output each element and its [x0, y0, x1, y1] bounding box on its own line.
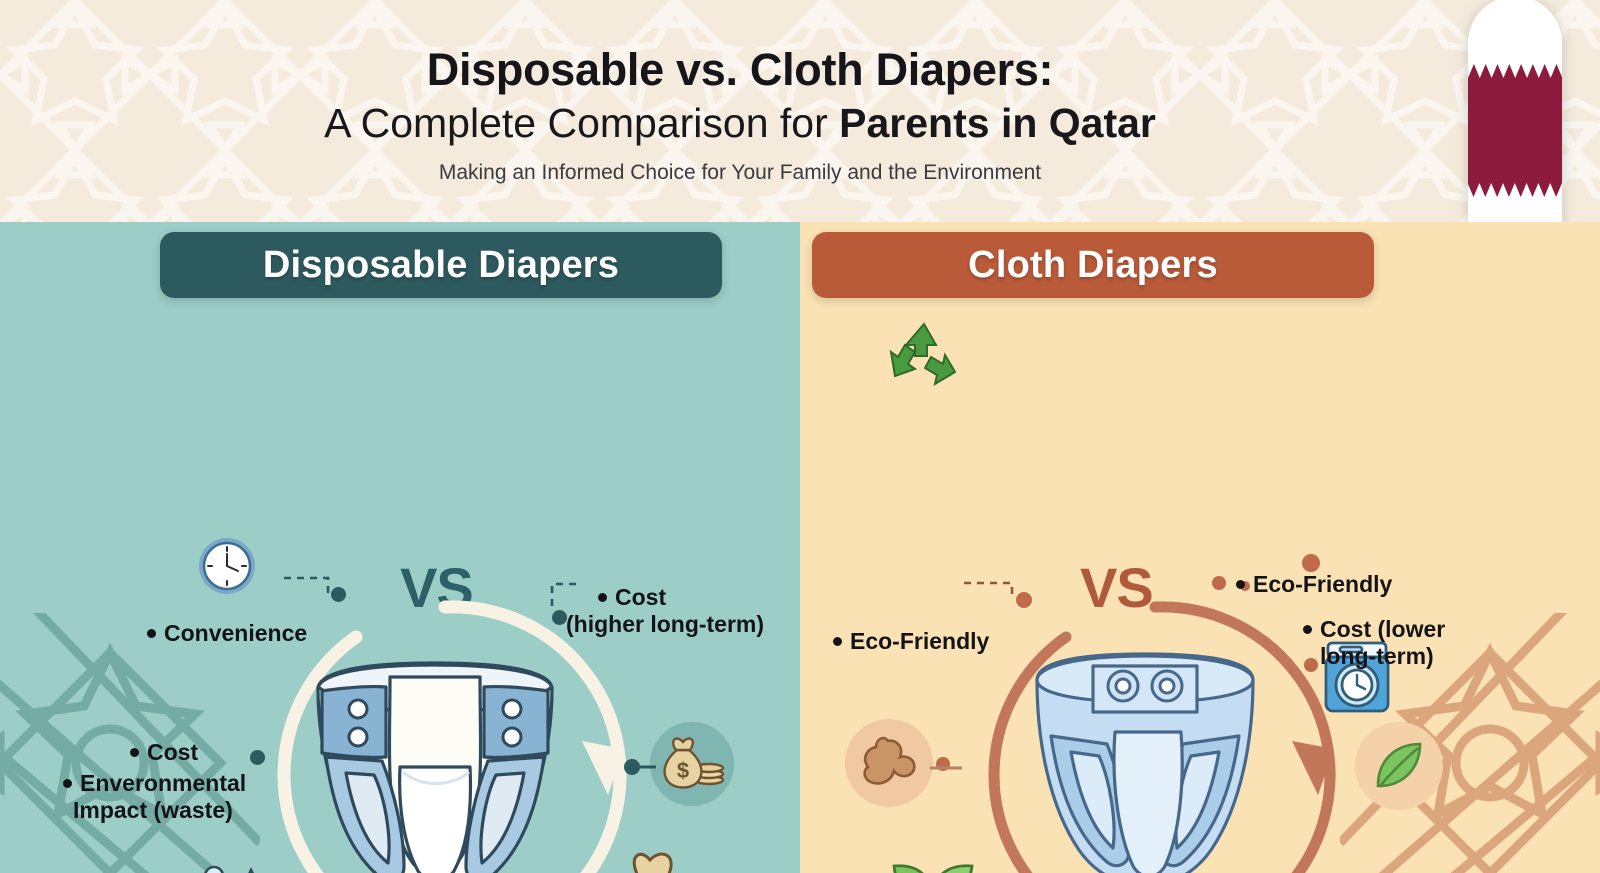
connector-dot	[552, 610, 567, 625]
disposable-diaper-illustration-icon	[300, 647, 570, 873]
label-environmental-impact: Enveronmental Impact (waste)	[63, 770, 246, 824]
panel-disposable: Disposable Diapers VS	[0, 222, 800, 873]
leaf-icon	[1368, 736, 1430, 796]
panel-title-cloth-label: Cloth Diapers	[968, 244, 1218, 287]
money-bag-coins-icon: $	[659, 736, 725, 792]
label-eco-friendly-right: Eco-Friendly	[1236, 571, 1392, 598]
label-eco-friendly-left-text: Eco-Friendly	[850, 628, 989, 654]
water-drops-icon	[197, 862, 283, 873]
leaf-icon-circle	[1355, 722, 1443, 810]
page-subtitle: Making an Informed Choice for Your Famil…	[439, 161, 1041, 185]
money-bag-coins-icon-circle: $	[650, 722, 734, 806]
bullet-icon	[598, 593, 607, 602]
bullet-icon	[833, 637, 842, 646]
connector-dot	[624, 759, 640, 775]
bullet-icon	[63, 779, 72, 788]
panel-title-disposable: Disposable Diapers	[160, 232, 722, 298]
label-cost-lower-text: Cost (lower	[1320, 616, 1445, 642]
label-cost-lower-sub: long-term)	[1320, 643, 1445, 670]
connector-dot	[1212, 576, 1226, 590]
bullet-icon	[1303, 625, 1312, 634]
panel-title-cloth: Cloth Diapers	[812, 232, 1374, 298]
connector-dot	[250, 750, 265, 765]
connector-dot	[1302, 554, 1320, 572]
label-cost-left: Cost	[130, 739, 198, 766]
label-cost-higher: Cost (higher long-term)	[598, 584, 764, 638]
label-cost-left-text: Cost	[147, 739, 198, 765]
connector-dot	[1016, 592, 1032, 608]
page-title-line1: Disposable vs. Cloth Diapers:	[427, 43, 1053, 96]
label-cost-higher-text: Cost	[615, 584, 666, 610]
money-bag-icon: $	[610, 852, 706, 873]
comparison-panels: Disposable Diapers VS	[0, 222, 1600, 873]
label-eco-friendly-right-text: Eco-Friendly	[1253, 571, 1392, 597]
clock-icon	[196, 535, 258, 597]
label-eco-friendly-left: Eco-Friendly	[833, 628, 989, 655]
label-cost-lower: Cost (lower long-term)	[1303, 616, 1445, 670]
connector-dot	[936, 757, 950, 771]
cloth-texture-icon	[854, 731, 924, 795]
qatar-flag-banner-icon	[1468, 0, 1562, 222]
label-convenience-text: Convenience	[164, 620, 307, 646]
header-section: Disposable vs. Cloth Diapers: A Complete…	[0, 0, 1600, 222]
bullet-icon	[147, 629, 156, 638]
cloth-texture-icon-circle	[845, 719, 933, 807]
bullet-icon	[1236, 580, 1245, 589]
label-cost-higher-sub: (higher long-term)	[566, 611, 764, 638]
page-title-line2: A Complete Comparison for Parents in Qat…	[324, 98, 1156, 149]
cloth-diaper-illustration-icon	[1015, 640, 1275, 873]
green-leaf-icon	[888, 856, 980, 873]
panel-cloth: Cloth Diapers VS	[800, 222, 1600, 873]
infographic-poster: Disposable vs. Cloth Diapers: A Complete…	[0, 0, 1600, 873]
header-title-wrap: Disposable vs. Cloth Diapers: A Complete…	[0, 0, 1480, 222]
page-title-line2-light: A Complete Comparison for	[324, 100, 839, 146]
recycle-icon	[885, 318, 963, 390]
svg-text:$: $	[677, 758, 689, 783]
panel-title-disposable-label: Disposable Diapers	[263, 244, 619, 287]
page-title-line2-bold: Parents in Qatar	[839, 100, 1156, 146]
bullet-icon	[130, 748, 139, 757]
label-environmental-impact-sub: Impact (waste)	[73, 797, 246, 824]
label-convenience: Convenience	[147, 620, 307, 647]
label-environmental-impact-text: Enveronmental	[80, 770, 246, 796]
connector-dot	[331, 587, 346, 602]
